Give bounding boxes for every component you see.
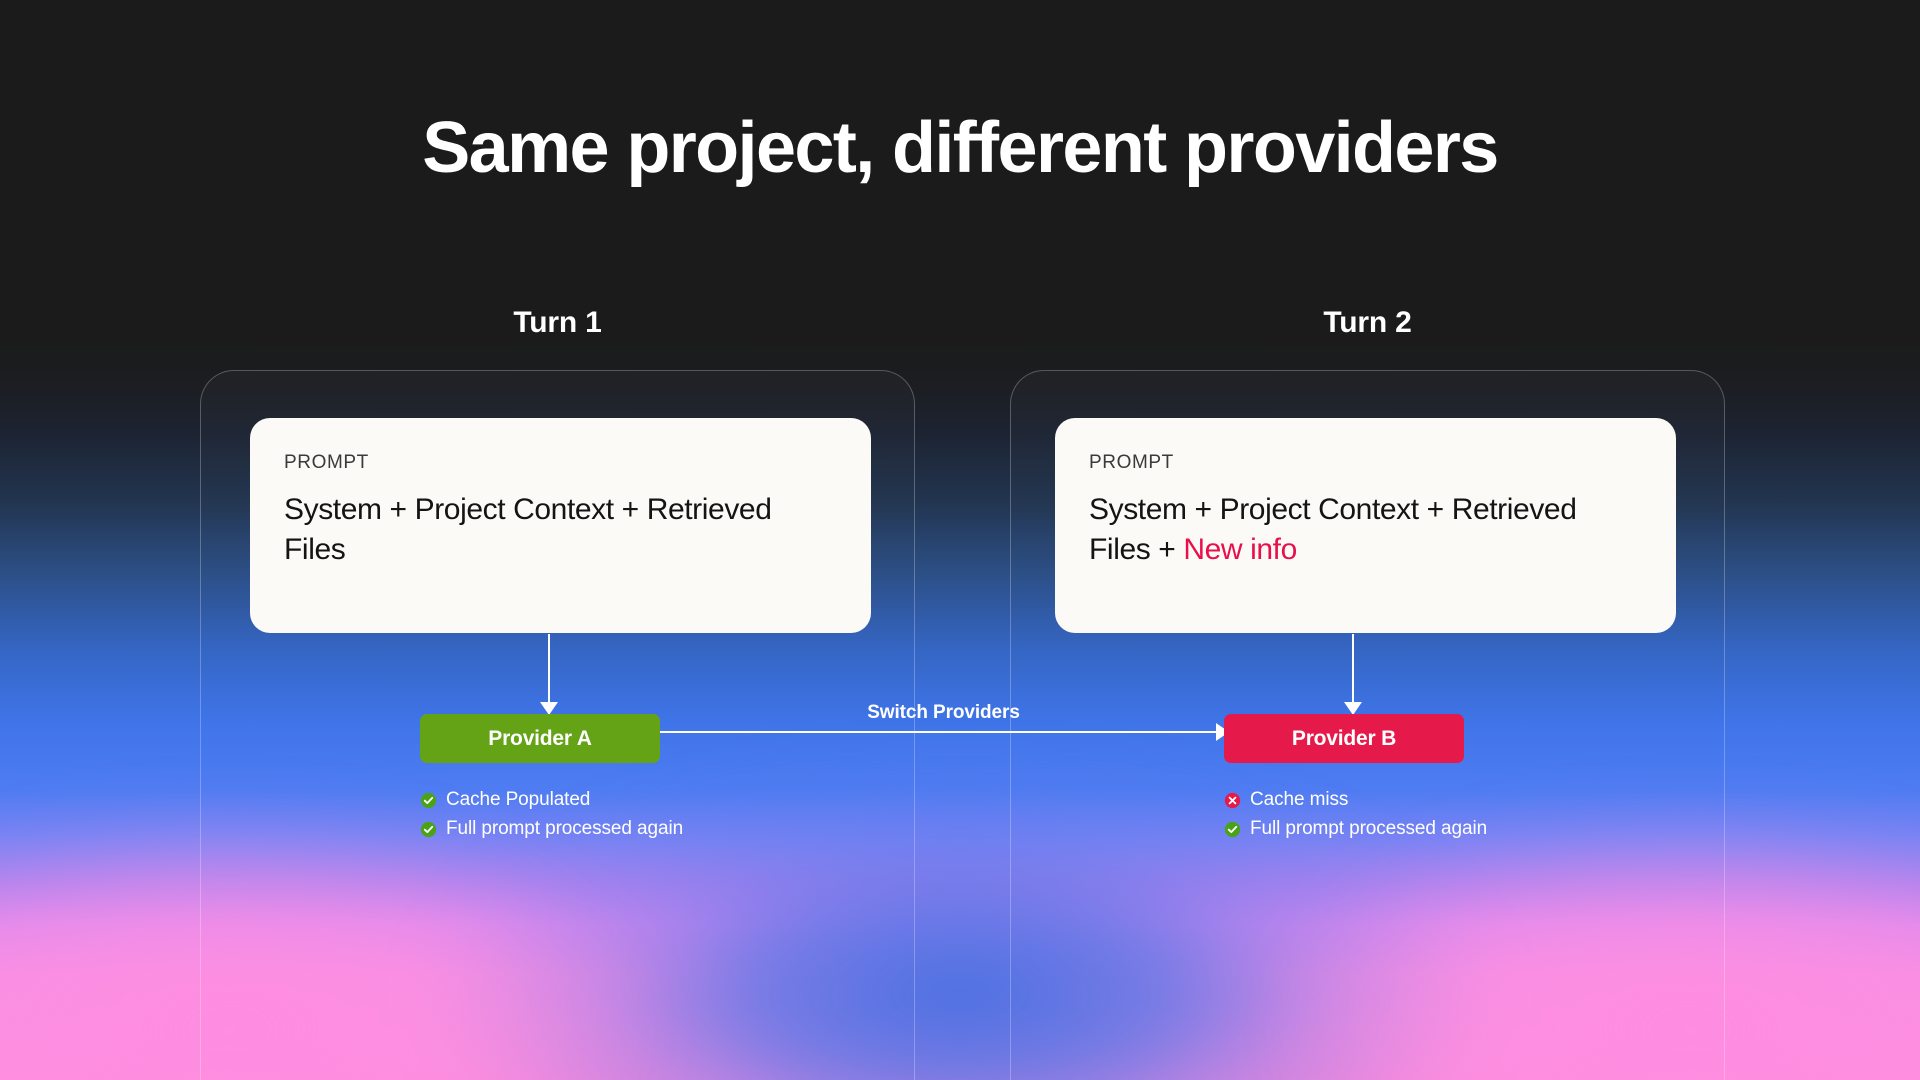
prompt-kicker: PROMPT [284,452,837,474]
status-item: Full prompt processed again [1224,815,1487,844]
arrow-down-turn-1 [548,634,550,714]
provider-b-button[interactable]: Provider B [1224,714,1464,763]
x-circle-icon [1224,792,1241,809]
status-label: Cache Populated [446,786,590,815]
status-item: Full prompt processed again [420,815,683,844]
provider-b-label: Provider B [1292,727,1396,751]
status-label: Cache miss [1250,786,1348,815]
status-list-turn-2: Cache miss Full prompt processed again [1224,786,1487,844]
prompt-card-turn-2: PROMPT System + Project Context + Retrie… [1055,418,1676,633]
prompt-text: System + Project Context + Retrieved Fil… [1089,490,1642,570]
provider-a-button[interactable]: Provider A [420,714,660,763]
prompt-card-turn-1: PROMPT System + Project Context + Retrie… [250,418,871,633]
prompt-text-highlight: New info [1183,533,1297,566]
status-label: Full prompt processed again [446,815,683,844]
diagram-canvas: Same project, different providers Turn 1… [0,0,1920,1080]
provider-a-label: Provider A [488,727,591,751]
turn-2-label: Turn 2 [1010,306,1725,340]
prompt-kicker: PROMPT [1089,452,1642,474]
page-title: Same project, different providers [0,112,1920,184]
background-dark-overlay [0,0,1920,430]
status-label: Full prompt processed again [1250,815,1487,844]
status-list-turn-1: Cache Populated Full prompt processed ag… [420,786,683,844]
prompt-text: System + Project Context + Retrieved Fil… [284,490,837,570]
check-circle-icon [420,821,437,838]
turn-1-label: Turn 1 [200,306,915,340]
status-item: Cache miss [1224,786,1487,815]
check-circle-icon [420,792,437,809]
prompt-text-main: System + Project Context + Retrieved Fil… [284,493,772,566]
status-item: Cache Populated [420,786,683,815]
arrow-switch-providers [660,731,1227,733]
arrow-down-turn-2 [1352,634,1354,714]
prompt-text-main: System + Project Context + Retrieved Fil… [1089,493,1577,566]
check-circle-icon [1224,821,1241,838]
switch-providers-label: Switch Providers [660,702,1227,724]
